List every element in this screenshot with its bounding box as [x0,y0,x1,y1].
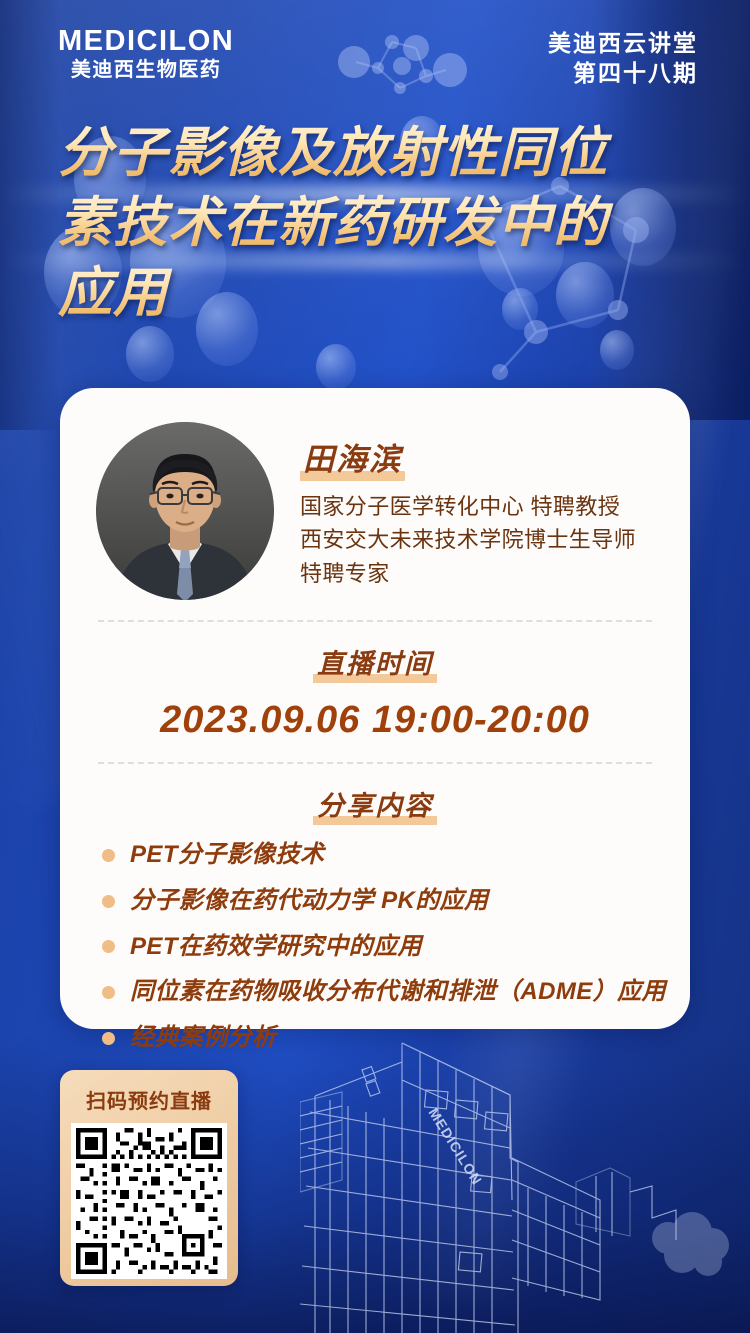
live-datetime: 2023.09.06 19:00-20:00 [96,699,654,742]
speaker-name: 田海滨 [300,434,405,481]
speaker-title-line-1: 国家分子医学转化中心 特聘教授 [300,490,636,523]
bullet-dot-icon [102,1032,115,1045]
molecule-bubble [316,344,356,390]
series-label: 美迪西云讲堂 第四十八期 [548,28,698,89]
poster-header: MEDICILON 美迪西生物医药 美迪西云讲堂 第四十八期 [0,0,750,110]
series-episode: 第四十八期 [548,58,698,88]
avatar [96,422,274,600]
divider-top [98,620,652,622]
topic-list: PET分子影像技术 分子影像在药代动力学 PK的应用 PET在药效学研究中的应用… [96,841,654,1053]
topic-label: 同位素在药物吸收分布代谢和排泄（ADME）应用 [130,978,666,1007]
qr-panel[interactable]: 扫码预约直播 [60,1070,238,1286]
list-item: 同位素在药物吸收分布代谢和排泄（ADME）应用 [102,978,654,1007]
title-line-1: 分子影像及放射性同位 [58,118,718,188]
topic-label: PET在药效学研究中的应用 [130,933,422,962]
brand-logo-en: MEDICILON [58,26,234,56]
topic-label: 分子影像在药代动力学 PK的应用 [130,887,488,916]
molecule-bubble [126,326,174,382]
poster-title: 分子影像及放射性同位 素技术在新药研发中的 应用 [58,118,718,329]
building-sign-text: MEDICILON [425,1105,485,1188]
qr-code[interactable] [71,1123,227,1279]
list-item: PET分子影像技术 [102,841,654,870]
bullet-dot-icon [102,849,115,862]
speaker-title-line-3: 特聘专家 [300,557,636,590]
bullet-dot-icon [102,895,115,908]
speaker-info: 田海滨 国家分子医学转化中心 特聘教授 西安交大未来技术学院博士生导师 特聘专家 [300,422,636,590]
qr-label: 扫码预约直播 [71,1085,227,1114]
info-card: 田海滨 国家分子医学转化中心 特聘教授 西安交大未来技术学院博士生导师 特聘专家… [60,388,690,1029]
speaker-section: 田海滨 国家分子医学转化中心 特聘教授 西安交大未来技术学院博士生导师 特聘专家 [96,422,654,600]
brand-logo-cn: 美迪西生物医药 [58,59,234,81]
live-time-heading: 直播时间 [96,642,654,683]
list-item: 经典案例分析 [102,1024,654,1053]
speaker-portrait-icon [96,422,274,600]
title-line-2: 素技术在新药研发中的 [58,188,718,258]
divider-bottom [98,762,652,764]
list-item: 分子影像在药代动力学 PK的应用 [102,887,654,916]
building-illustration: MEDICILON [300,1040,750,1333]
qr-code-icon [76,1128,222,1274]
bullet-dot-icon [102,940,115,953]
bullet-dot-icon [102,986,115,999]
poster-root: MEDICILON 美迪西生物医药 美迪西云讲堂 第四十八期 分子影像及放射性同… [0,0,750,1333]
content-heading-text: 分享内容 [313,784,437,825]
brand-logo: MEDICILON 美迪西生物医药 [58,26,234,81]
title-line-3: 应用 [58,258,718,328]
series-name: 美迪西云讲堂 [548,28,698,58]
molecule-bubble [600,330,634,370]
live-time-heading-text: 直播时间 [313,642,437,683]
speaker-title-line-2: 西安交大未来技术学院博士生导师 [300,523,636,556]
content-heading: 分享内容 [96,784,654,825]
topic-label: PET分子影像技术 [130,841,324,870]
topic-label: 经典案例分析 [130,1024,276,1053]
list-item: PET在药效学研究中的应用 [102,933,654,962]
